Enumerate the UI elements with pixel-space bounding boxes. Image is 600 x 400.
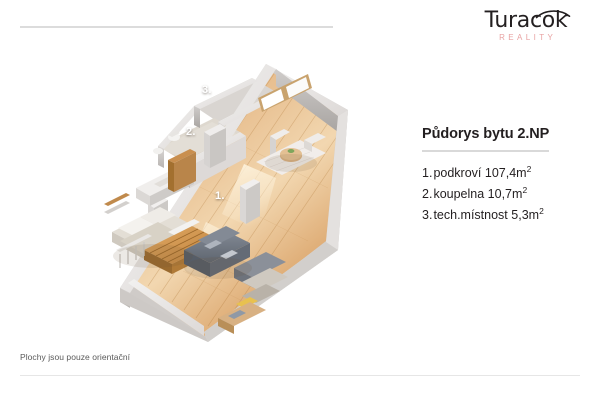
room-name: koupelna <box>433 187 484 201</box>
toilet <box>168 131 180 141</box>
list-item: 2.koupelna 10,7m2 <box>422 184 586 205</box>
brand-tagline: REALITY <box>470 33 582 43</box>
room-area: 107,4 <box>485 166 516 180</box>
room-name: tech.místnost <box>433 208 507 222</box>
floorplan-image: 1. 2. 3. <box>8 36 398 346</box>
room-unit-exponent: 2 <box>527 164 532 174</box>
header-divider <box>20 26 333 28</box>
list-item: 1.podkroví 107,4m2 <box>422 163 586 184</box>
room-name: podkroví <box>433 166 481 180</box>
floorplan-page: Turacok REALITY <box>0 0 600 400</box>
legend-divider <box>422 150 549 152</box>
plant <box>288 149 295 153</box>
brand-logo: Turacok REALITY <box>470 8 582 50</box>
room-index: 1. <box>422 166 432 180</box>
room-area: 5,3 <box>511 208 528 222</box>
room-index: 3. <box>422 208 432 222</box>
footer-divider <box>20 375 580 376</box>
list-item: 3.tech.místnost 5,3m2 <box>422 205 586 226</box>
room-unit: m <box>516 166 526 180</box>
page-title: Půdorys bytu 2.NP <box>422 125 586 143</box>
pillar2-side-a <box>240 186 246 224</box>
room-unit: m <box>529 208 539 222</box>
disclaimer-text: Plochy jsou pouze orientační <box>20 352 130 363</box>
room-unit: m <box>512 187 522 201</box>
room-list: 1.podkroví 107,4m2 2.koupelna 10,7m2 3.t… <box>422 163 586 226</box>
legend-panel: Půdorys bytu 2.NP 1.podkroví 107,4m2 2.k… <box>422 125 586 226</box>
sink <box>153 148 163 154</box>
wall-shelf <box>104 193 130 214</box>
room-unit-exponent: 2 <box>539 206 544 216</box>
floorplan-render <box>8 36 398 346</box>
room-area: 10,7 <box>488 187 512 201</box>
room-index: 2. <box>422 187 432 201</box>
wall-tech-divider-side <box>194 106 200 128</box>
column-side-a <box>204 132 210 168</box>
room-unit-exponent: 2 <box>522 185 527 195</box>
brand-name: Turacok <box>470 8 582 34</box>
